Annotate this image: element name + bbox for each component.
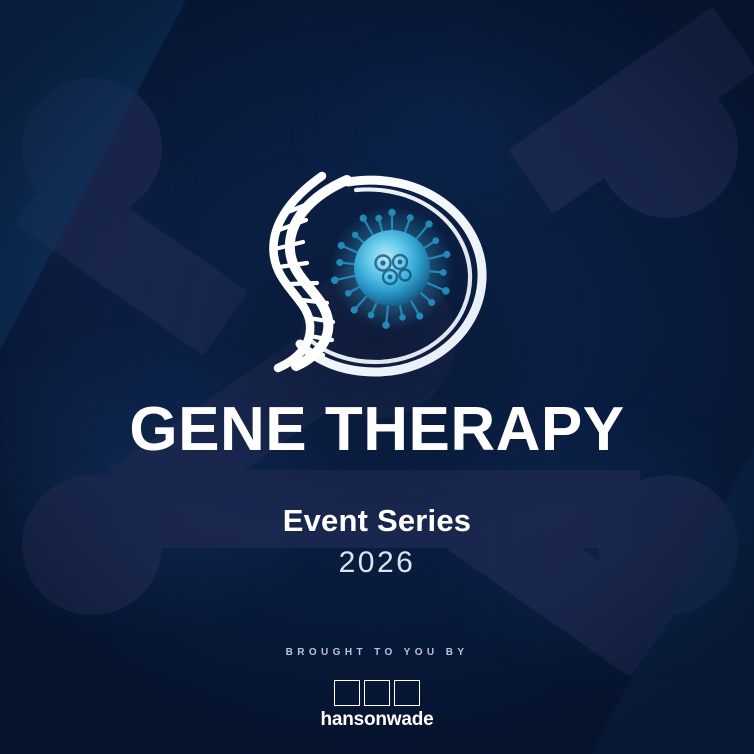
logo-square-2 [364,680,390,706]
logo-square-3 [394,680,420,706]
gene-therapy-event-poster: GENE THERAPY Event Series 2026 BROUGHT T… [0,0,754,754]
dna-helix-ring-with-virus-icon [252,160,502,385]
hansonwade-logo: hansonwade [320,680,433,730]
event-subtitle: Event Series [283,505,472,536]
virus-particle [330,206,454,330]
emblem-svg [252,160,502,385]
event-year: 2026 [339,548,416,578]
poster-content: GENE THERAPY Event Series 2026 BROUGHT T… [0,0,754,754]
logo-square-1 [334,680,360,706]
hansonwade-wordmark: hansonwade [320,710,433,730]
sponsor-credit-block: BROUGHT TO YOU BY hansonwade [0,648,754,730]
page-title: GENE THERAPY [129,399,624,461]
brought-to-you-by-label: BROUGHT TO YOU BY [286,648,469,658]
hansonwade-squares-icon [334,680,420,706]
